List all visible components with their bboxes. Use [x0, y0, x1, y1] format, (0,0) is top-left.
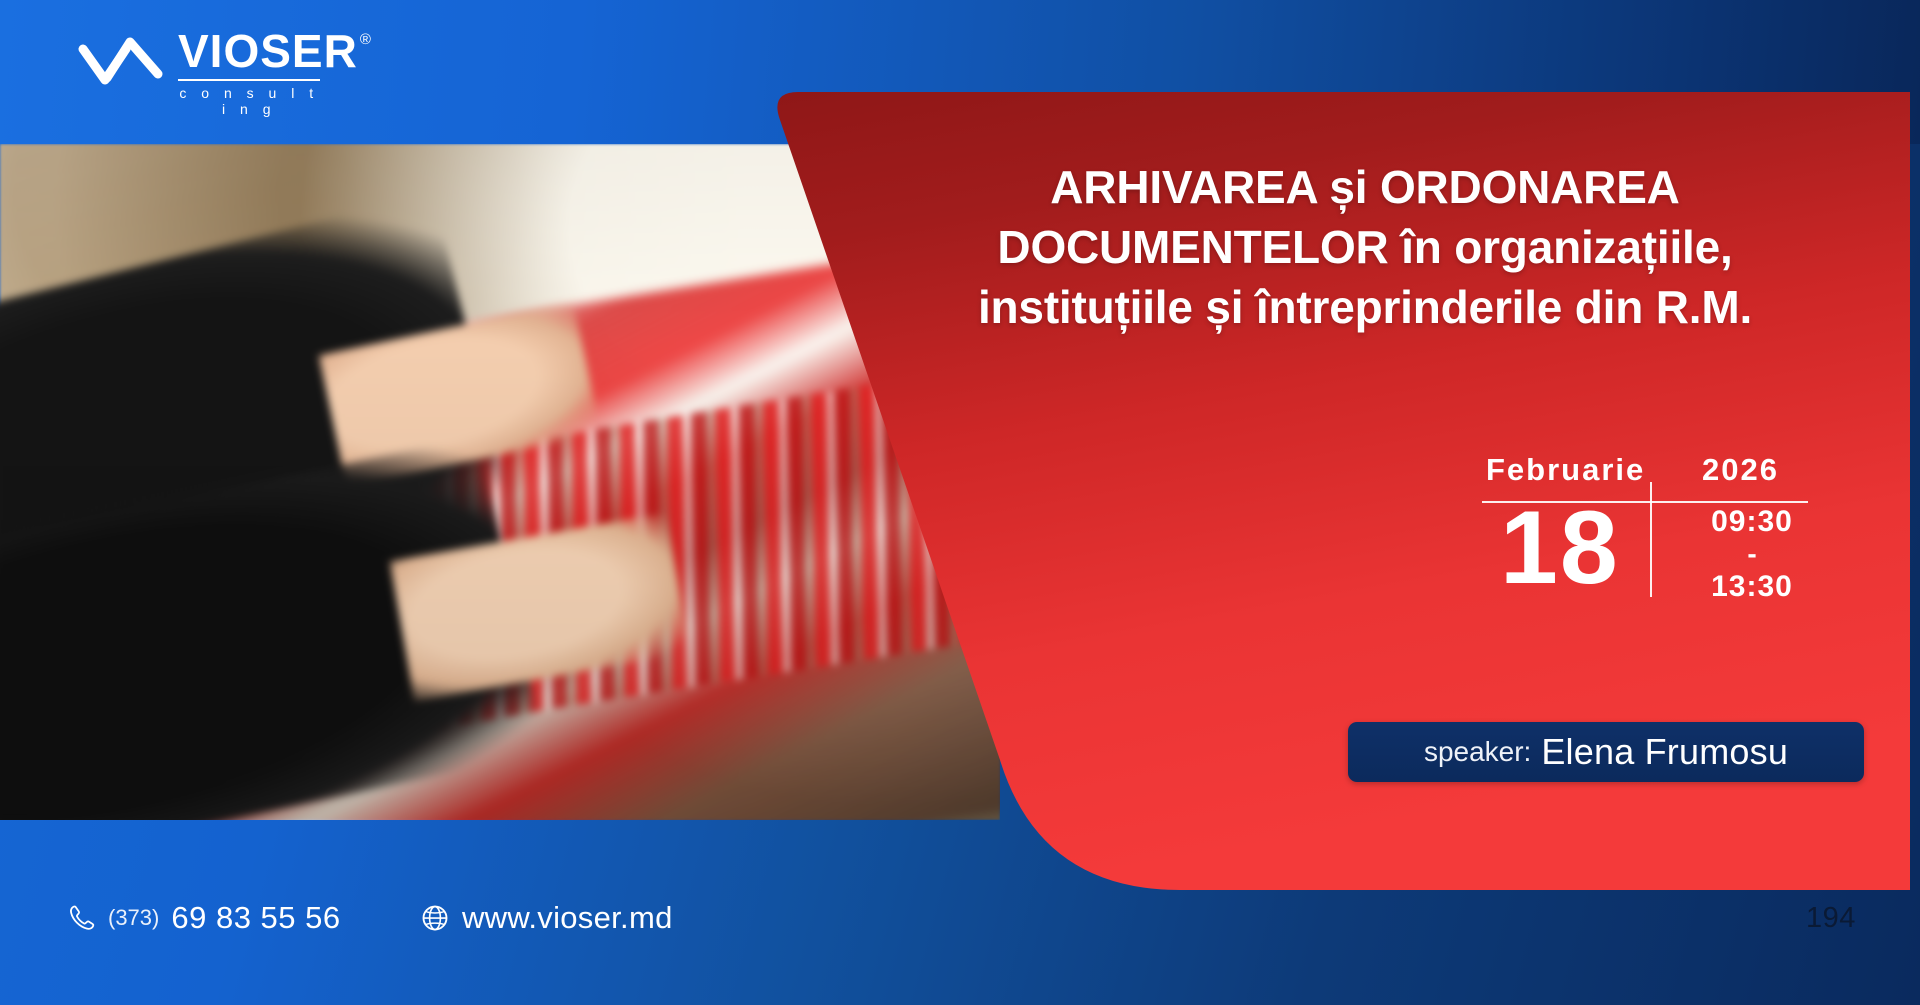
phone-icon — [66, 903, 96, 933]
logo-name: VIOSER — [178, 30, 358, 74]
contact-website[interactable]: www.vioser.md — [420, 900, 673, 936]
phone-country-prefix: (373) — [108, 905, 159, 931]
event-month: Februarie — [1486, 452, 1645, 488]
date-vertical-divider — [1650, 482, 1652, 597]
title-line-3: instituțiile și întreprinderile din R.M. — [820, 278, 1910, 338]
event-date-block: Februarie 2026 18 09:30 - 13:30 — [1470, 452, 1810, 632]
logo-divider — [178, 79, 320, 81]
speaker-badge[interactable]: speaker: Elena Frumosu — [1348, 722, 1864, 782]
event-time-end: 13:30 — [1692, 571, 1812, 603]
title-line-1: ARHIVAREA și ORDONAREA — [820, 158, 1910, 218]
speaker-name: Elena Frumosu — [1541, 731, 1788, 773]
event-day: 18 — [1500, 494, 1620, 603]
logo-wordmark: VIOSER ® c o n s u l t i n g — [178, 28, 371, 117]
event-time-range: 09:30 - 13:30 — [1692, 506, 1812, 603]
website-url: www.vioser.md — [462, 900, 673, 936]
logo-tagline: c o n s u l t i n g — [178, 85, 320, 117]
event-time-separator: - — [1692, 538, 1812, 570]
page-number: 194 — [1806, 902, 1856, 935]
registered-trademark-icon: ® — [360, 32, 371, 47]
phone-number: 69 83 55 56 — [171, 900, 340, 936]
event-year: 2026 — [1702, 452, 1779, 488]
title-line-2: DOCUMENTELOR în organizațiile, — [820, 218, 1910, 278]
event-poster: VIOSER ® c o n s u l t i n g ARHIVAREA ș… — [0, 0, 1920, 1005]
page-title: ARHIVAREA și ORDONAREA DOCUMENTELOR în o… — [820, 158, 1910, 337]
vioser-chevron-mark-icon — [78, 28, 164, 94]
globe-icon — [420, 903, 450, 933]
event-time-start: 09:30 — [1692, 506, 1812, 538]
contact-phone[interactable]: (373) 69 83 55 56 — [66, 900, 341, 936]
brand-logo[interactable]: VIOSER ® c o n s u l t i n g — [78, 28, 371, 117]
speaker-label: speaker: — [1424, 736, 1531, 768]
